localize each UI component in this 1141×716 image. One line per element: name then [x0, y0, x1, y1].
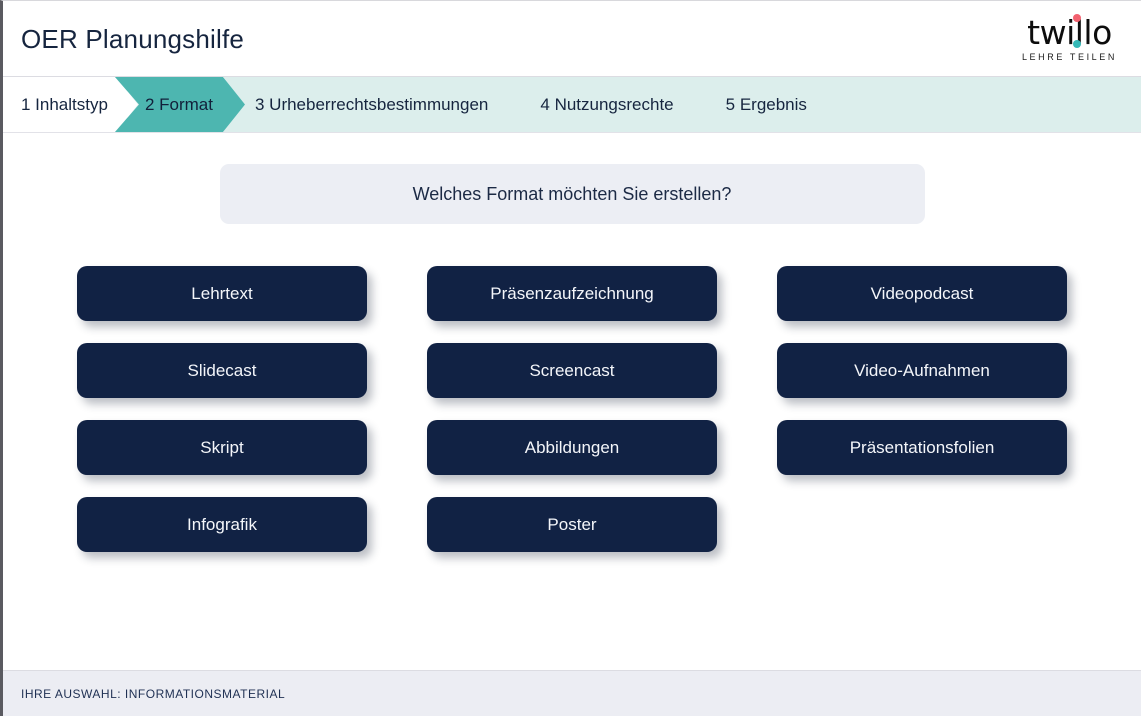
logo-word-text: twillo	[1027, 13, 1112, 52]
option-praesenzaufzeichnung[interactable]: Präsenzaufzeichnung	[427, 266, 717, 321]
step-2-label: 2 Format	[145, 96, 213, 113]
step-4-label: 4 Nutzungsrechte	[540, 96, 673, 113]
question-text: Welches Format möchten Sie erstellen?	[413, 184, 732, 205]
selection-footer: IHRE AUSWAHL: INFORMATIONSMATERIAL	[3, 670, 1141, 716]
main-content: Welches Format möchten Sie erstellen? Le…	[3, 164, 1141, 716]
option-videopodcast[interactable]: Videopodcast	[777, 266, 1067, 321]
question-panel: Welches Format möchten Sie erstellen?	[220, 164, 925, 224]
app-header: OER Planungshilfe twillo LEHRE TEILEN	[3, 1, 1141, 77]
options-column-1: Lehrtext Slidecast Skript Infografik	[77, 266, 367, 552]
option-lehrtext[interactable]: Lehrtext	[77, 266, 367, 321]
option-screencast[interactable]: Screencast	[427, 343, 717, 398]
option-skript[interactable]: Skript	[77, 420, 367, 475]
logo-wordmark: twillo	[1027, 16, 1112, 49]
oer-planning-app: OER Planungshilfe twillo LEHRE TEILEN 1 …	[0, 0, 1141, 716]
twillo-logo: twillo LEHRE TEILEN	[1022, 16, 1117, 62]
step-3-label: 3 Urheberrechtsbestimmungen	[255, 96, 488, 113]
options-column-3: Videopodcast Video-Aufnahmen Präsentatio…	[777, 266, 1067, 552]
selection-summary: IHRE AUSWAHL: INFORMATIONSMATERIAL	[21, 687, 285, 701]
step-1-inhaltstyp[interactable]: 1 Inhaltstyp	[3, 77, 138, 132]
option-infografik[interactable]: Infografik	[77, 497, 367, 552]
option-abbildungen[interactable]: Abbildungen	[427, 420, 717, 475]
option-video-aufnahmen[interactable]: Video-Aufnahmen	[777, 343, 1067, 398]
page-title: OER Planungshilfe	[21, 26, 244, 52]
logo-tagline: LEHRE TEILEN	[1022, 52, 1117, 62]
step-5-label: 5 Ergebnis	[726, 96, 807, 113]
option-poster[interactable]: Poster	[427, 497, 717, 552]
logo-dot-teal-icon	[1073, 40, 1081, 48]
logo-dot-pink-icon	[1073, 14, 1081, 22]
options-column-2: Präsenzaufzeichnung Screencast Abbildung…	[427, 266, 717, 552]
step-5-ergebnis[interactable]: 5 Ergebnis	[700, 77, 833, 132]
step-4-nutzungsrechte[interactable]: 4 Nutzungsrechte	[514, 77, 699, 132]
progress-stepper: 1 Inhaltstyp 2 Format 3 Urheberrechtsbes…	[3, 77, 1141, 133]
option-slidecast[interactable]: Slidecast	[77, 343, 367, 398]
step-1-label: 1 Inhaltstyp	[21, 96, 108, 113]
option-praesentationsfolien[interactable]: Präsentationsfolien	[777, 420, 1067, 475]
step-3-urheberrechtsbestimmungen[interactable]: 3 Urheberrechtsbestimmungen	[223, 77, 514, 132]
format-options-grid: Lehrtext Slidecast Skript Infografik Prä…	[3, 266, 1141, 552]
